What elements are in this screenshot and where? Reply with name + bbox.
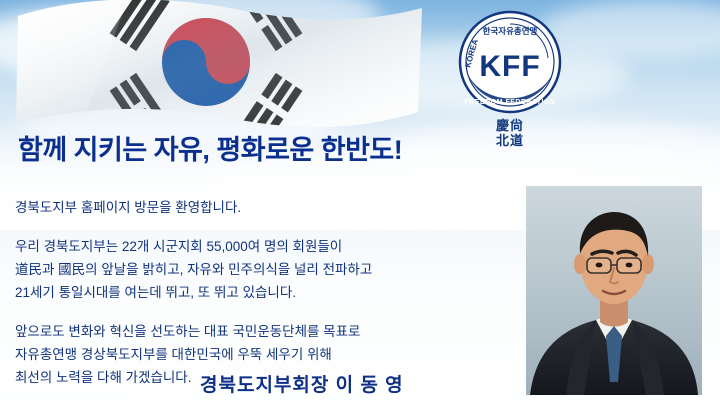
emblem-region-label: 慶尙 北道 bbox=[480, 118, 540, 148]
svg-text:FREEDOM FEDERATION: FREEDOM FEDERATION bbox=[465, 99, 556, 106]
paragraph-1: 경북도지부 홈페이지 방문을 환영합니다. bbox=[15, 196, 515, 219]
text-line: 앞으로도 변화와 혁신을 선도하는 대표 국민운동단체를 목표로 bbox=[15, 320, 515, 343]
page-title: 함께 지키는 자유, 평화로운 한반도! bbox=[18, 128, 402, 167]
welcome-message: 경북도지부 홈페이지 방문을 환영합니다. 우리 경북도지부는 22개 시군지회… bbox=[15, 196, 515, 389]
svg-text:한국자유총연맹: 한국자유총연맹 bbox=[483, 26, 538, 36]
text-line: 21세기 통일시대를 여는데 뛰고, 또 뛰고 있습니다. bbox=[15, 281, 515, 304]
emblem-region-line1: 慶尙 bbox=[480, 118, 540, 133]
text-line: 경북도지부 홈페이지 방문을 환영합니다. bbox=[15, 196, 515, 219]
emblem-region-line2: 北道 bbox=[480, 133, 540, 148]
kff-emblem: 한국자유총연맹 KFF KOREA FREEDOM FEDERATION bbox=[452, 6, 568, 122]
chairman-portrait-photo bbox=[526, 186, 702, 395]
banner-page: 한국자유총연맹 KFF KOREA FREEDOM FEDERATION 慶尙 … bbox=[0, 0, 720, 411]
text-line: 道民과 國民의 앞날을 밝히고, 자유와 민주의식을 널리 전파하고 bbox=[15, 258, 515, 281]
paragraph-2: 우리 경북도지부는 22개 시군지회 55,000여 명의 회원들이 道民과 國… bbox=[15, 235, 515, 304]
signature-line: 경북도지부회장 이 동 영 bbox=[200, 370, 404, 397]
svg-text:KFF: KFF bbox=[479, 50, 540, 83]
text-line: 우리 경북도지부는 22개 시군지회 55,000여 명의 회원들이 bbox=[15, 235, 515, 258]
text-line: 자유총연맹 경상북도지부를 대한민국에 우뚝 세우기 위해 bbox=[15, 343, 515, 366]
